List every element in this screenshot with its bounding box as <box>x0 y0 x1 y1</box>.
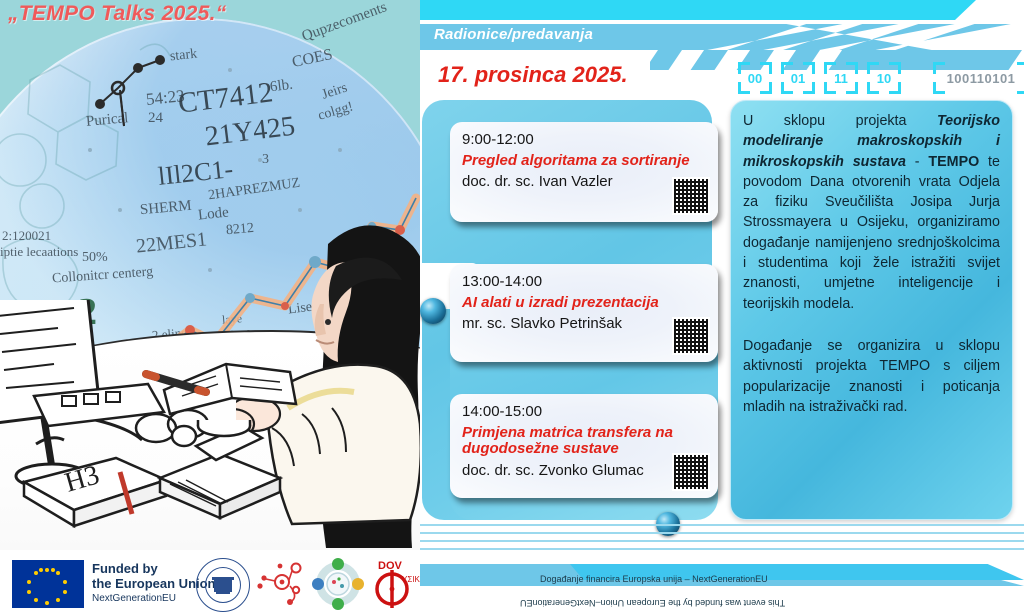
funding-note-hr: Događanje financira Europska unija – Nex… <box>540 574 768 584</box>
schedule-speaker: doc. dr. sc. Zvonko Glumac <box>462 462 706 479</box>
description-panel: U sklopu projekta Teorijsko modeliranje … <box>730 100 1013 520</box>
svg-text:ΥΣΙΚΑ: ΥΣΙΚΑ <box>402 575 420 584</box>
binary-chip: 10 <box>867 62 901 94</box>
poster-panel: Radionice/predavanja 17. prosinca 2025. … <box>420 0 1024 616</box>
dov-fizika-logo-icon: DOV ΥΣΙΚΑ <box>372 556 420 610</box>
top-cyan-bar <box>420 0 1024 20</box>
event-date: 17. prosinca 2025. <box>438 62 628 88</box>
hero-illustration: stark Purical 54:23 24 CT7412 6lb. 21Y42… <box>0 0 420 550</box>
schedule-title: AI alati u izradi prezentacija <box>462 295 706 312</box>
schedule-time: 14:00-15:00 <box>462 403 706 422</box>
printer-illustration <box>150 420 290 530</box>
qr-code-icon[interactable] <box>674 455 708 489</box>
logo-footer: Funded by the European Union NextGenerat… <box>0 550 420 616</box>
eu-flag-icon <box>12 560 84 608</box>
binary-chip: 01 <box>781 62 815 94</box>
qr-code-icon[interactable] <box>674 179 708 213</box>
book-stack-illustration: H3 <box>20 448 170 538</box>
atom-network-icon <box>256 560 308 608</box>
decorative-orb <box>420 298 446 324</box>
binary-chip: 11 <box>824 62 858 94</box>
schedule-title: Pregled algoritama za sortiranje <box>462 153 706 170</box>
description-paragraph-2: Događanje se organizira u sklopu aktivno… <box>743 336 1000 417</box>
description-paragraph-1: U sklopu projekta Teorijsko modeliranje … <box>743 111 1000 314</box>
page-title: „TEMPO Talks 2025.“ <box>8 2 227 26</box>
binary-chip: 00 <box>738 62 772 94</box>
qr-code-icon[interactable] <box>674 319 708 353</box>
binary-chip-long: 100110101 <box>933 62 1024 94</box>
university-seal-icon <box>196 558 250 612</box>
circular-logo-icon <box>312 558 364 610</box>
funding-note-en: This event was funded by the European Un… <box>520 598 785 608</box>
poster-canvas: stark Purical 54:23 24 CT7412 6lb. 21Y42… <box>0 0 1024 616</box>
schedule-time: 9:00-12:00 <box>462 131 706 150</box>
schedule-title: Primjena matrica transfera na dugodosežn… <box>462 425 706 458</box>
schedule-time: 13:00-14:00 <box>462 273 706 292</box>
schedule-card[interactable]: 9:00-12:00 Pregled algoritama za sortira… <box>450 122 718 222</box>
schedule-card[interactable]: 14:00-15:00 Primjena matrica transfera n… <box>450 394 718 498</box>
schedule-speaker: doc. dr. sc. Ivan Vazler <box>462 173 706 190</box>
section-header-label: Radionice/predavanja <box>434 26 593 43</box>
binary-chip-row: 00 01 11 10 100110101 <box>738 62 1024 94</box>
schedule-card[interactable]: 13:00-14:00 AI alati u izradi prezentaci… <box>450 264 718 362</box>
schedule-speaker: mr. sc. Slavko Petrinšak <box>462 315 706 332</box>
